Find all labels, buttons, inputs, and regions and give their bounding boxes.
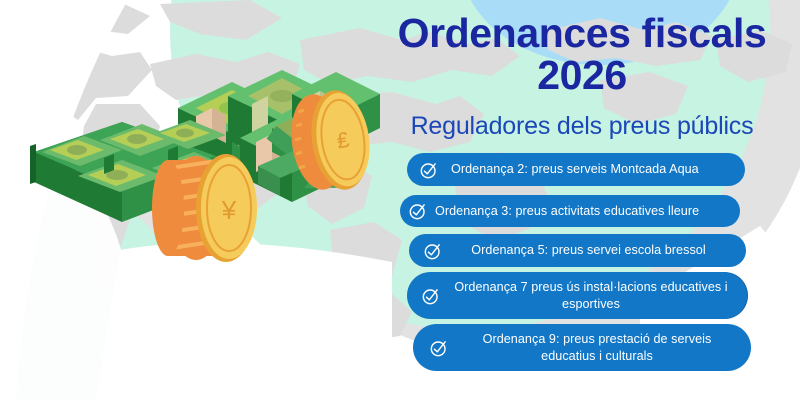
poster-canvas: ₤ bbox=[0, 0, 800, 400]
list-item-label: Ordenança 2: preus serveis Montcada Aqua bbox=[439, 161, 735, 177]
page-subtitle: Reguladores dels preus públics bbox=[382, 112, 782, 141]
content-panel: Ordenances fiscals 2026 Reguladores dels… bbox=[382, 0, 800, 400]
check-circle-icon bbox=[423, 241, 443, 261]
title-block: Ordenances fiscals 2026 bbox=[382, 12, 782, 96]
list-item-label: Ordenança 3: preus activitats educatives… bbox=[428, 203, 732, 219]
list-item-ordenanca-5[interactable]: Ordenança 5: preus servei escola bressol bbox=[409, 234, 746, 267]
check-circle-icon bbox=[421, 286, 441, 306]
list-item-ordenanca-3[interactable]: Ordenança 3: preus activitats educatives… bbox=[400, 195, 740, 227]
check-circle-icon bbox=[429, 338, 449, 358]
page-title-line1: Ordenances fiscals bbox=[398, 10, 767, 56]
coin-front-symbol: ¥ bbox=[221, 195, 237, 225]
check-circle-icon bbox=[408, 201, 428, 221]
money-illustration-svg: ₤ bbox=[0, 0, 400, 400]
list-item-ordenanca-2[interactable]: Ordenança 2: preus serveis Montcada Aqua bbox=[407, 153, 745, 186]
list-item-label: Ordenança 5: preus servei escola bressol bbox=[443, 242, 736, 258]
list-item-label: Ordenança 7 preus ús instal·lacions educ… bbox=[441, 279, 733, 311]
check-circle-icon bbox=[419, 160, 439, 180]
list-item-ordenanca-9[interactable]: Ordenança 9: preus prestació de serveis … bbox=[413, 324, 751, 371]
coin-front: ¥ bbox=[152, 154, 257, 262]
list-item-label: Ordenança 9: preus prestació de serveis … bbox=[449, 331, 737, 363]
page-title-line2: 2026 bbox=[382, 54, 782, 96]
list-item-ordenanca-7[interactable]: Ordenança 7 preus ús instal·lacions educ… bbox=[407, 272, 747, 319]
page-title: Ordenances fiscals 2026 bbox=[382, 12, 782, 96]
money-illustration: ₤ bbox=[0, 0, 400, 400]
